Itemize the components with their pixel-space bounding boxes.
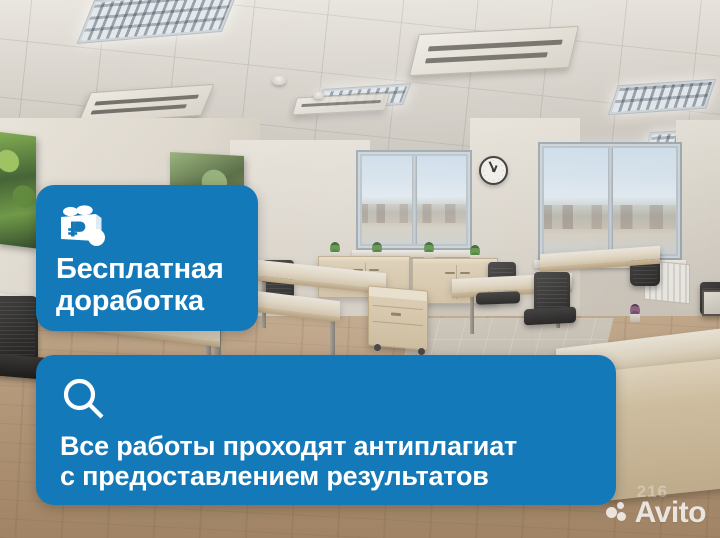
ac-vent: [428, 40, 563, 52]
clock-center-pin: [492, 169, 495, 172]
wallet-ruble-icon: [58, 205, 108, 247]
caster-wheel: [374, 344, 381, 351]
smoke-detector-icon: [272, 76, 286, 85]
window: [538, 142, 682, 260]
drawer-line: [373, 321, 423, 326]
chair-mesh: [0, 299, 35, 359]
plant-pot: [630, 314, 640, 322]
mobile-pedestal-drawers: [368, 285, 428, 350]
drawer-line: [373, 305, 423, 310]
wall-painting: [0, 132, 36, 249]
avito-dots-logo: [606, 502, 630, 524]
window-mullion: [608, 148, 613, 254]
free-revision-card: Бесплатная доработка: [36, 185, 258, 331]
picture-frame: [702, 290, 720, 316]
ac-vent: [425, 52, 548, 63]
desk-cabinet-front: [606, 357, 720, 501]
wall-clock: [479, 156, 508, 185]
air-conditioner-cassette: [409, 26, 579, 76]
ac-vent: [90, 104, 187, 114]
drawer-handle: [391, 312, 401, 316]
avito-watermark: Avito: [606, 498, 706, 528]
free-revision-card-text: Бесплатная доработка: [56, 253, 238, 318]
cabinet-handle: [460, 272, 470, 274]
potted-plant: [630, 300, 642, 322]
office-chair-seat: [524, 307, 576, 326]
office-chair-back: [0, 296, 38, 362]
potted-plant: [424, 240, 434, 260]
cabinet-handle: [445, 272, 455, 274]
window: [356, 150, 472, 250]
screenshot-root: Бесплатная доработка Все работы проходят…: [0, 0, 720, 538]
window-mullion: [412, 156, 417, 244]
caster-wheel: [418, 348, 425, 355]
ac-vent: [301, 100, 381, 107]
office-chair-seat: [476, 291, 520, 305]
search-icon: [62, 377, 106, 421]
avito-wordmark: Avito: [635, 498, 706, 528]
antiplagiat-card: Все работы проходят антиплагиат с предос…: [36, 355, 616, 505]
antiplagiat-card-text: Все работы проходят антиплагиат с предос…: [60, 431, 592, 491]
smoke-detector-icon: [313, 92, 324, 99]
chair-mesh: [537, 275, 567, 311]
